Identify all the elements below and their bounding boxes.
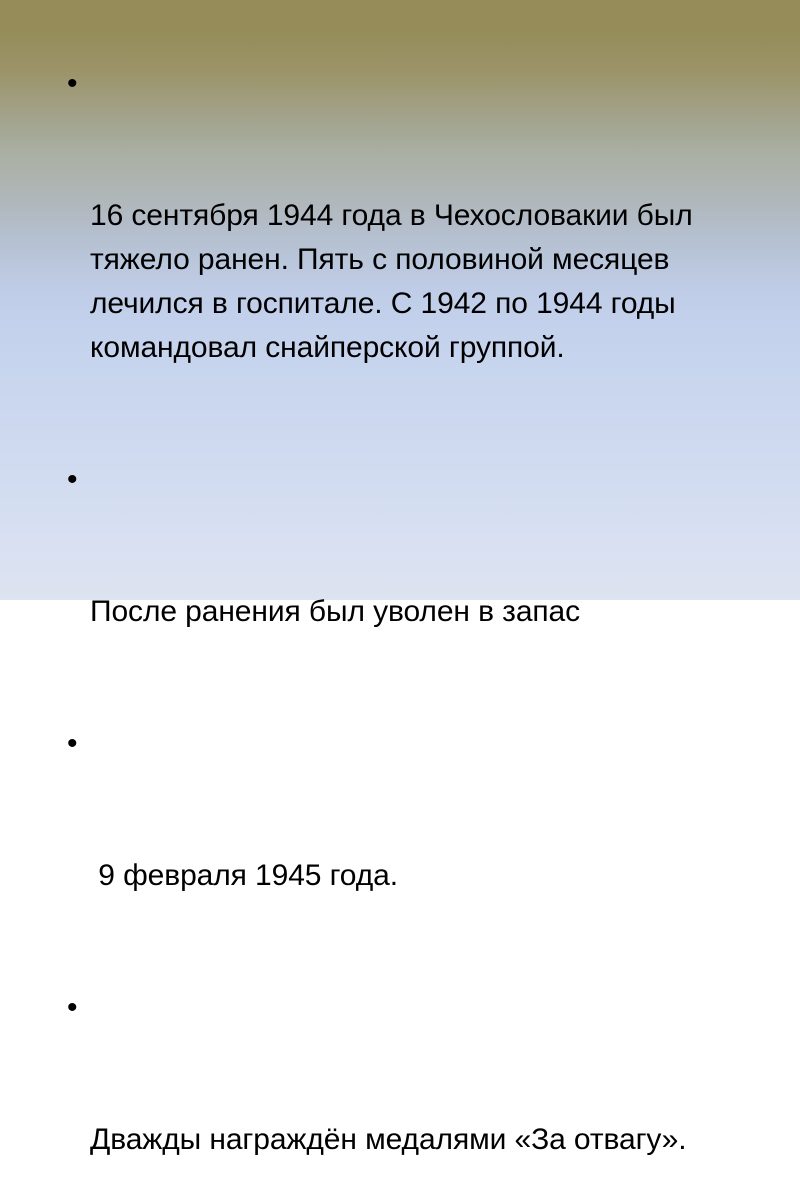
list-item[interactable]: • 16 сентября 1944 года в Чехословакии б… (64, 62, 754, 458)
slide-canvas: • 16 сентября 1944 года в Чехословакии б… (0, 0, 800, 600)
bullet-point-icon: • (67, 458, 85, 502)
list-item-text: 9 февраля 1945 года. (90, 854, 754, 898)
list-item[interactable]: • 9 февраля 1945 года. (64, 722, 754, 986)
slide-body-text: • 16 сентября 1944 года в Чехословакии б… (64, 62, 754, 1200)
list-item[interactable]: • Дважды награждён медалями «За отвагу». (64, 986, 754, 1200)
list-item[interactable]: • После ранения был уволен в запас (64, 458, 754, 722)
bullet-list: • 16 сентября 1944 года в Чехословакии б… (64, 62, 754, 1200)
list-item-text: 16 сентября 1944 года в Чехословакии был… (90, 194, 754, 370)
bullet-point-icon: • (67, 62, 85, 106)
list-item-text: Дважды награждён медалями «За отвагу». (90, 1118, 754, 1162)
bullet-point-icon: • (67, 722, 85, 766)
bullet-point-icon: • (67, 986, 85, 1030)
list-item-text: После ранения был уволен в запас (90, 590, 754, 634)
